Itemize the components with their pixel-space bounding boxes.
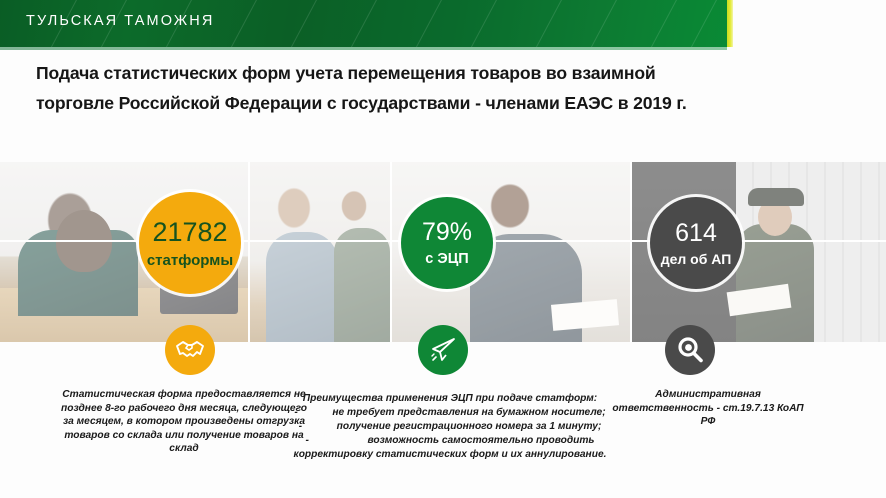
stat-circle-statforms[interactable]: 21782 статформы [139,192,241,294]
page-title: Подача статистических форм учета перемещ… [0,58,886,118]
header-underline [0,47,727,50]
caption-ecp-text-2: получение регистрационного номера за 1 м… [337,421,602,432]
caption-ecp-text-3: возможность самостоятельно проводить [368,435,595,446]
paper-plane-icon-badge [418,325,468,375]
visitor-1-shape [266,232,338,342]
magnifier-icon-badge [665,325,715,375]
collage-divider-vertical-2 [390,162,392,342]
photo-visitors-desk-image [250,162,390,342]
header-bar: ТУЛЬСКАЯ ТАМОЖНЯ [0,0,727,47]
desk-shape [0,288,248,342]
caption-ecp-dash-2: - [299,420,337,434]
organization-title: ТУЛЬСКАЯ ТАМОЖНЯ [26,13,214,29]
caption-ecp-text-3-continued: корректировку статистических форм и их а… [272,448,628,462]
caption-ecp-advantages: Преимущества применения ЭЦП при подаче с… [272,392,628,462]
stat-circle-ecp-share[interactable]: 79% с ЭЦП [401,197,493,289]
paper-shape [551,299,619,331]
collage-divider-vertical-3 [630,162,632,342]
collage-divider-vertical-1 [248,162,250,342]
caption-ecp-dash-1: - [294,406,332,420]
handshake-icon-badge [165,325,215,375]
header-accent-stripe [727,0,733,47]
stat-label-admin-cases: дел об АП [661,252,732,266]
caption-ecp-item-1: -не требует представления на бумажном но… [272,406,628,420]
paper-plane-icon [429,336,457,364]
stat-label-statforms: статформы [147,253,233,268]
page-title-line-1: Подача статистических форм учета перемещ… [0,58,886,88]
magnifier-icon [676,336,704,364]
stat-value-admin-cases: 614 [675,221,717,246]
stat-value-ecp-share: 79% [422,220,472,245]
stat-circle-admin-cases[interactable]: 614 дел об АП [650,197,742,289]
caption-ecp-dash-3: - [306,434,368,448]
caption-ecp-heading: Преимущества применения ЭЦП при подаче с… [272,392,628,406]
officer-cap-shape [748,188,804,206]
caption-admin-liability: Административная ответственность - ст.19… [608,388,808,429]
slide-canvas: ТУЛЬСКАЯ ТАМОЖНЯ Подача статистических ф… [0,0,886,498]
visitor-2-shape [334,228,390,342]
stat-value-statforms: 21782 [152,219,227,246]
stat-label-ecp-share: с ЭЦП [425,252,468,267]
caption-statforms-deadline: Статистическая форма предоставляется не … [60,388,308,456]
page-title-line-2: торговле Российской Федерации с государс… [0,88,886,118]
officer-torso-shape [18,230,138,316]
photo-visitors-desk [250,162,390,342]
caption-ecp-item-2: -получение регистрационного номера за 1 … [272,420,628,434]
caption-ecp-item-3: -возможность самостоятельно проводить [272,434,628,448]
warehouse-wall-shape [736,162,886,342]
uniformed-officer-head-shape [758,198,792,236]
handshake-icon [175,337,205,363]
caption-ecp-text-1: не требует представления на бумажном нос… [332,407,605,418]
document-shape [727,284,792,316]
